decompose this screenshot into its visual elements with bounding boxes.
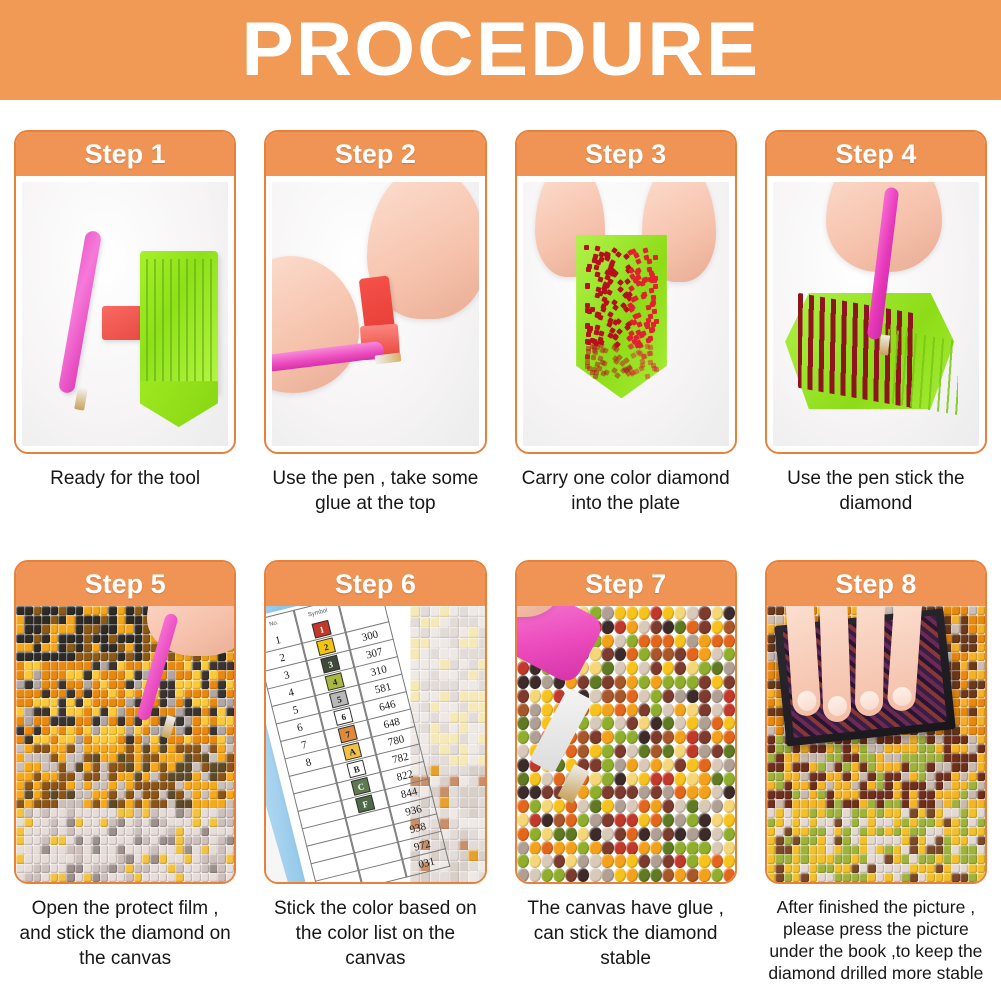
step-8-photo xyxy=(767,606,985,882)
step-3-header: Step 3 xyxy=(517,132,735,176)
step-card-6: Step 6 No.12345678Symbol1234567ABCFDMC30… xyxy=(250,560,500,990)
step-card-3: Step 3 Carry one color diamond into the … xyxy=(501,130,751,550)
step-8-card[interactable]: Step 8 xyxy=(765,560,987,884)
nail-icon xyxy=(827,696,847,717)
finger-icon xyxy=(819,606,852,722)
step-7-card[interactable]: Step 7 xyxy=(515,560,737,884)
step-4-header-label: Step 4 xyxy=(835,141,916,168)
steps-row-bottom: Step 5 Open the protect film , and stick… xyxy=(0,560,1001,990)
step-1-body xyxy=(16,176,234,452)
step-4-caption: Use the pen stick the diamond xyxy=(765,466,987,516)
step-7-header-label: Step 7 xyxy=(585,571,666,598)
nail-icon xyxy=(796,690,817,712)
red-glue-square-icon xyxy=(102,306,142,340)
step-3-caption: Carry one color diamond into the plate xyxy=(515,466,737,516)
step-5-photo xyxy=(16,606,234,882)
step-4-body xyxy=(767,176,985,452)
step-3-photo xyxy=(523,182,729,446)
step-6-photo: No.12345678Symbol1234567ABCFDMC300307310… xyxy=(266,606,484,882)
step-3-card[interactable]: Step 3 xyxy=(515,130,737,454)
step-3-body xyxy=(517,176,735,452)
step-5-header-label: Step 5 xyxy=(85,571,166,598)
step-2-caption: Use the pen , take some glue at the top xyxy=(264,466,486,516)
step-1-header: Step 1 xyxy=(16,132,234,176)
step-1-caption: Ready for the tool xyxy=(14,466,236,491)
step-5-caption: Open the protect film , and stick the di… xyxy=(14,896,236,971)
step-2-header: Step 2 xyxy=(266,132,484,176)
step-card-8: Step 8 After finish xyxy=(751,560,1001,990)
step-6-header: Step 6 xyxy=(266,562,484,606)
step-4-header: Step 4 xyxy=(767,132,985,176)
steps-grid: Step 1 Ready for the tool xyxy=(0,100,1001,1001)
green-tray-icon xyxy=(140,251,218,394)
step-3-header-label: Step 3 xyxy=(585,141,666,168)
step-card-2: Step 2 Use the pen , take some glue at t… xyxy=(250,130,500,550)
tray-grooves-icon xyxy=(146,259,212,388)
step-card-7: Step 7 The canvas have glue , can stick … xyxy=(501,560,751,990)
step-4-card[interactable]: Step 4 xyxy=(765,130,987,454)
step-card-4: Step 4 Use the pen stick the diamond xyxy=(751,130,1001,550)
step-6-caption: Stick the color based on the color list … xyxy=(264,896,486,971)
step-5-body xyxy=(16,606,234,882)
step-1-header-label: Step 1 xyxy=(85,141,166,168)
step-8-header: Step 8 xyxy=(767,562,985,606)
step-1-card[interactable]: Step 1 xyxy=(14,130,236,454)
step-8-header-label: Step 8 xyxy=(835,571,916,598)
step-7-body xyxy=(517,606,735,882)
step-card-5: Step 5 Open the protect film , and stick… xyxy=(0,560,250,990)
step-8-caption: After finished the picture , please pres… xyxy=(765,896,987,984)
step-6-body: No.12345678Symbol1234567ABCFDMC300307310… xyxy=(266,606,484,882)
nail-icon xyxy=(860,691,880,711)
step-7-header: Step 7 xyxy=(517,562,735,606)
red-diamonds-icon xyxy=(584,245,658,382)
step-1-photo xyxy=(22,182,228,446)
step-5-header: Step 5 xyxy=(16,562,234,606)
step-card-1: Step 1 Ready for the tool xyxy=(0,130,250,550)
step-8-body xyxy=(767,606,985,882)
step-6-header-label: Step 6 xyxy=(335,571,416,598)
step-5-card[interactable]: Step 5 xyxy=(14,560,236,884)
page-title: PROCEDURE xyxy=(241,12,760,88)
step-7-caption: The canvas have glue , can stick the dia… xyxy=(515,896,737,971)
step-2-photo xyxy=(272,182,478,446)
step-2-body xyxy=(266,176,484,452)
step-2-header-label: Step 2 xyxy=(335,141,416,168)
step-4-photo xyxy=(773,182,979,446)
finger-icon xyxy=(855,606,886,717)
nail-icon xyxy=(892,686,913,706)
step-7-photo xyxy=(517,606,735,882)
page-banner: PROCEDURE xyxy=(0,0,1001,100)
steps-row-top: Step 1 Ready for the tool xyxy=(0,130,1001,550)
step-6-card[interactable]: Step 6 No.12345678Symbol1234567ABCFDMC30… xyxy=(264,560,486,884)
step-2-card[interactable]: Step 2 xyxy=(264,130,486,454)
tray-grooves-icon xyxy=(888,329,958,415)
